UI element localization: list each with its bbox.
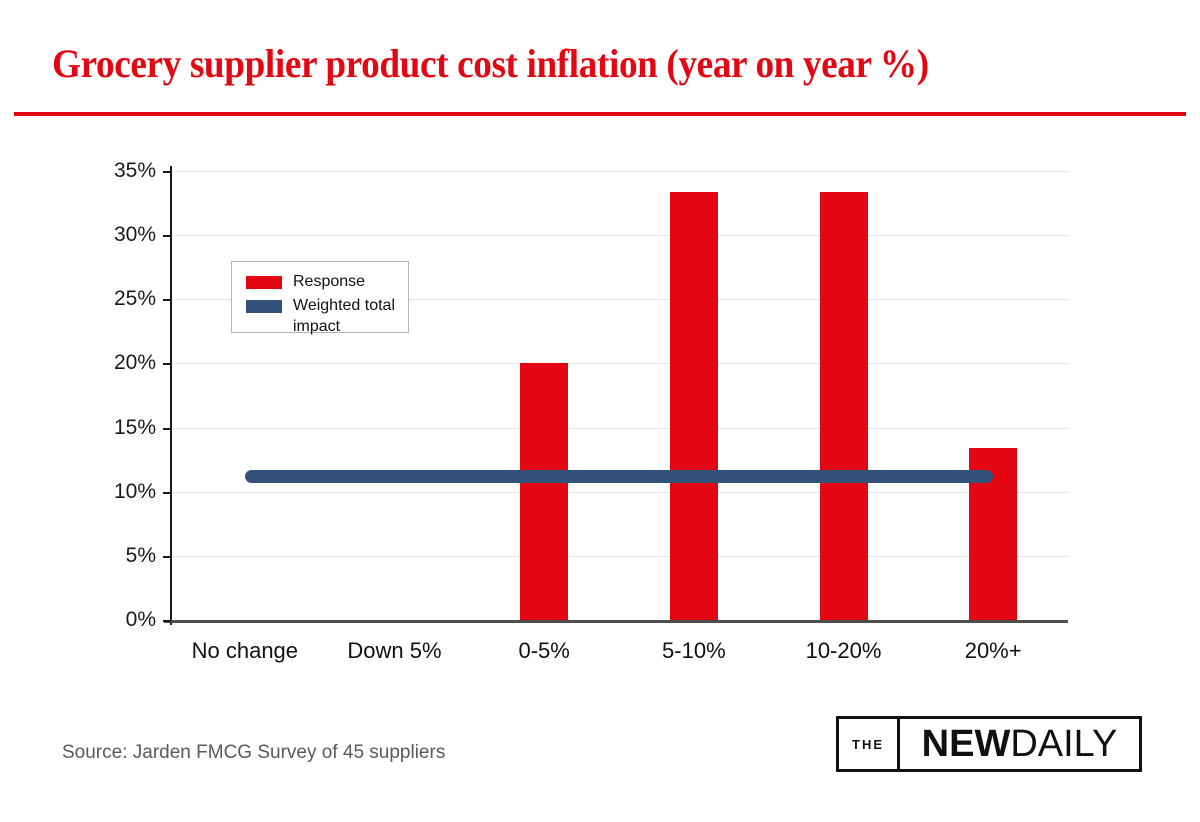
y-axis-tick [163,235,171,237]
y-axis-tick [163,299,171,301]
x-axis-tick-label: 10-20% [806,638,882,664]
y-axis-tick-label: 10% [114,481,156,502]
y-axis-tick-label: 20% [114,352,156,373]
y-axis-tick-label: 25% [114,288,156,309]
gridline [170,556,1068,557]
y-axis-tick-label: 15% [114,417,156,438]
bar-0-5 [520,363,568,620]
gridline [170,171,1068,172]
legend-label: Response [293,271,365,292]
y-axis-tick-label: 5% [126,545,156,566]
y-axis-tick [163,620,171,622]
y-axis-tick [163,492,171,494]
gridline [170,235,1068,236]
y-axis-tick [163,171,171,173]
y-axis-tick [163,363,171,365]
the-new-daily-logo: THE NEWDAILY [836,716,1142,772]
gridline [170,428,1068,429]
x-axis-tick-label: 20%+ [965,638,1022,664]
weighted-total-impact-line [245,470,993,483]
y-axis-tick-label: 30% [114,224,156,245]
y-axis-tick-label: 35% [114,160,156,181]
gridline [170,363,1068,364]
bar-5-10 [670,192,718,620]
chart-legend: Response Weighted total impact [231,261,409,333]
legend-label: Weighted total impact [293,295,401,337]
logo-new-text: NEW [922,725,1011,763]
logo-the-text: THE [839,719,900,769]
x-axis-tick-label: 0-5% [518,638,569,664]
chart-canvas: 0%5%10%15%20%25%30%35% No changeDown 5%0… [0,118,1200,698]
bar-10-20 [820,192,868,620]
page-title: Grocery supplier product cost inflation … [52,40,929,88]
legend-swatch-icon [246,276,282,289]
x-axis-tick-label: 5-10% [662,638,726,664]
title-divider [14,112,1186,116]
source-note: Source: Jarden FMCG Survey of 45 supplie… [62,742,445,764]
x-axis-tick-label: Down 5% [347,638,441,664]
x-axis-tick-label: No change [192,638,298,664]
gridline [170,492,1068,493]
chart-footer: Source: Jarden FMCG Survey of 45 supplie… [0,698,1200,822]
y-axis-tick-label: 0% [126,609,156,630]
x-axis-line [164,620,1068,623]
y-axis-tick [163,428,171,430]
logo-wordmark: NEWDAILY [900,719,1139,769]
chart-header: Grocery supplier product cost inflation … [0,0,1200,118]
legend-item-weighted-total-impact: Weighted total impact [246,295,408,337]
y-axis-tick [163,556,171,558]
plot-area [170,171,1068,620]
legend-swatch-icon [246,300,282,313]
logo-daily-text: DAILY [1010,725,1117,763]
legend-item-response: Response [246,271,408,292]
